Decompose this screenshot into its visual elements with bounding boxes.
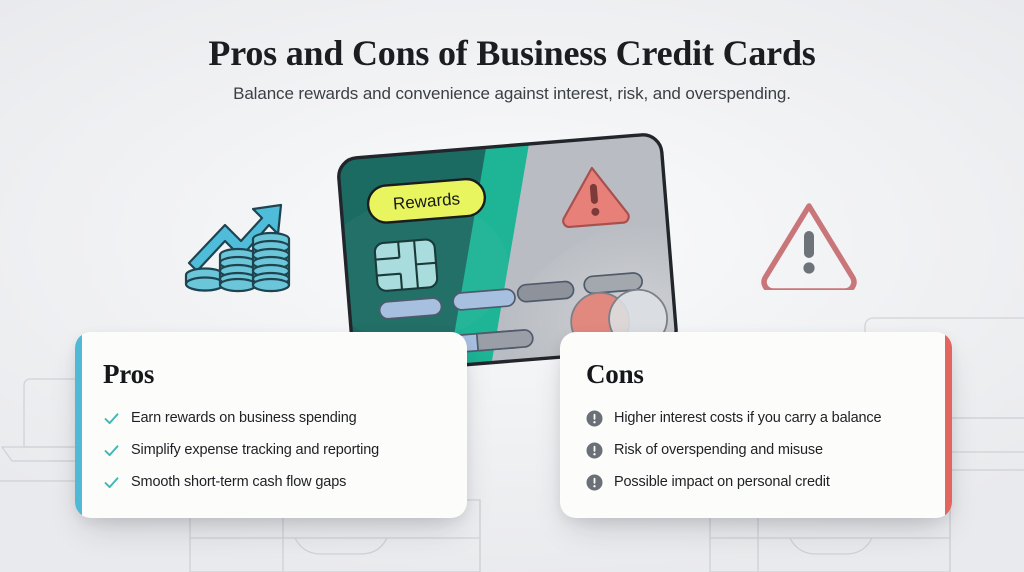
cons-heading: Cons — [586, 359, 926, 390]
growth-arrow-coins-icon — [183, 191, 293, 296]
rewards-badge: Rewards — [367, 178, 487, 224]
list-item-label: Earn rewards on business spending — [131, 410, 357, 426]
page-subtitle: Balance rewards and convenience against … — [0, 84, 1024, 104]
header: Pros and Cons of Business Credit Cards B… — [0, 33, 1024, 104]
pros-heading: Pros — [103, 359, 441, 390]
cons-list: Higher interest costs if you carry a bal… — [586, 402, 926, 498]
cons-card: Cons Higher interest costs if you carry … — [560, 332, 952, 518]
check-icon — [103, 410, 120, 427]
list-item: Higher interest costs if you carry a bal… — [586, 402, 926, 434]
pros-card: Pros Earn rewards on business spending S… — [75, 332, 467, 518]
warning-triangle-icon — [757, 196, 861, 290]
list-item-label: Simplify expense tracking and reporting — [131, 442, 379, 458]
list-item: Risk of overspending and misuse — [586, 434, 926, 466]
list-item-label: Smooth short-term cash flow gaps — [131, 474, 346, 490]
list-item-label: Higher interest costs if you carry a bal… — [614, 410, 881, 426]
exclamation-circle-icon — [586, 410, 603, 427]
list-item: Smooth short-term cash flow gaps — [103, 466, 441, 498]
check-icon — [103, 442, 120, 459]
list-item: Simplify expense tracking and reporting — [103, 434, 441, 466]
list-item-label: Possible impact on personal credit — [614, 474, 830, 490]
list-item-label: Risk of overspending and misuse — [614, 442, 823, 458]
check-icon — [103, 474, 120, 491]
emv-chip-icon — [374, 239, 438, 292]
pros-list: Earn rewards on business spending Simpli… — [103, 402, 441, 498]
list-item: Earn rewards on business spending — [103, 402, 441, 434]
page-title: Pros and Cons of Business Credit Cards — [0, 33, 1024, 73]
exclamation-circle-icon — [586, 442, 603, 459]
exclamation-circle-icon — [586, 474, 603, 491]
list-item: Possible impact on personal credit — [586, 466, 926, 498]
